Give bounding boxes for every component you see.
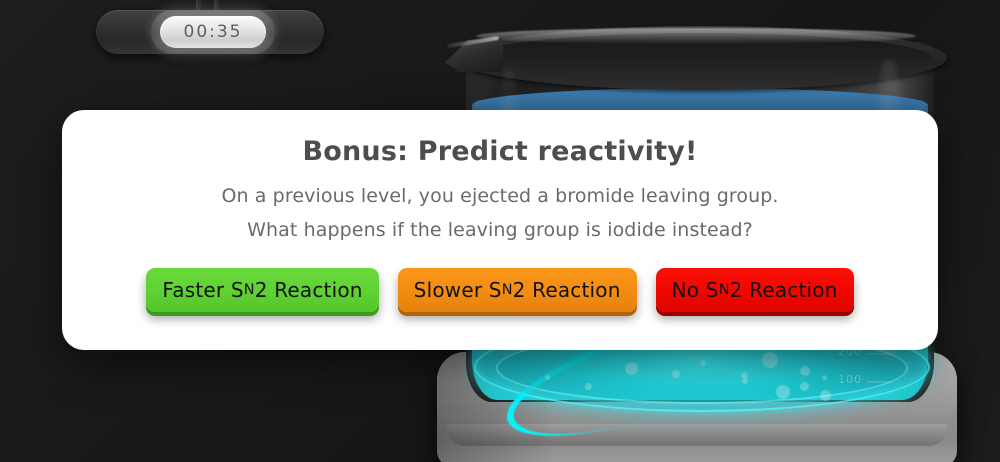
countdown-timer: 00:35	[160, 16, 266, 48]
answer-label-suffix: 2 Reaction	[255, 278, 363, 302]
answer-label-suffix: 2 Reaction	[513, 278, 621, 302]
answer-options: Faster SN2 Reaction Slower SN2 Reaction …	[62, 268, 938, 312]
bubble	[800, 366, 810, 376]
answer-label-prefix: Faster S	[162, 278, 243, 302]
timer-value: 00:35	[184, 22, 243, 42]
bubble	[776, 385, 790, 399]
modal-prompt-line-1: On a previous level, you ejected a bromi…	[62, 167, 938, 207]
bubble	[672, 370, 680, 378]
graduation-line	[866, 381, 892, 383]
bubble	[625, 362, 638, 375]
answer-label-prefix: No S	[672, 278, 719, 302]
bubble	[822, 375, 827, 380]
bubble	[820, 390, 831, 401]
modal-title: Bonus: Predict reactivity!	[62, 110, 938, 167]
beaker-rim-highlight	[476, 28, 916, 44]
answer-label-prefix: Slower S	[414, 278, 502, 302]
graduation-label-100: 100	[838, 373, 862, 386]
game-screen: 200 100 00:35 Bonus: Predict reactivity!…	[0, 0, 1000, 462]
bubble	[800, 382, 809, 391]
bubble	[585, 383, 592, 390]
answer-button-faster[interactable]: Faster SN2 Reaction	[146, 268, 378, 312]
answer-label-suffix: 2 Reaction	[730, 278, 838, 302]
answer-button-none[interactable]: No SN2 Reaction	[656, 268, 854, 312]
bubble	[742, 378, 748, 384]
modal-prompt-line-2: What happens if the leaving group is iod…	[62, 207, 938, 241]
bubble	[700, 360, 706, 366]
bubble	[762, 352, 778, 368]
bubble	[545, 375, 550, 380]
answer-button-slower[interactable]: Slower SN2 Reaction	[398, 268, 637, 312]
bonus-question-modal: Bonus: Predict reactivity! On a previous…	[62, 110, 938, 350]
